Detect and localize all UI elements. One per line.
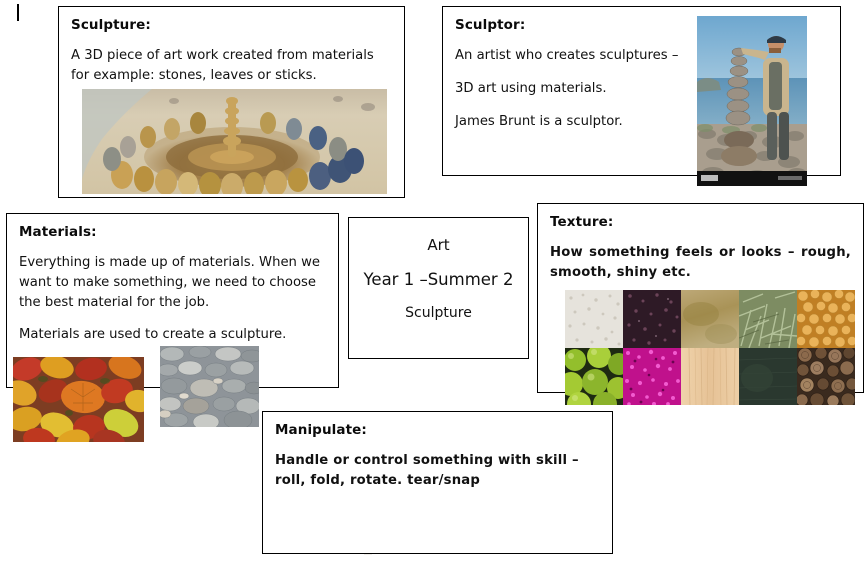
texture-swatch-cut-logs (797, 348, 855, 405)
art-subject-label: Art (349, 236, 528, 254)
texture-swatch-pale-wood (681, 348, 739, 405)
knowledge-organiser-page: Sculpture: A 3D piece of art work create… (0, 0, 866, 561)
card-materials-heading: Materials: (19, 224, 326, 240)
image-stone-circle-sculpture (82, 89, 387, 194)
texture-swatch-sand (681, 290, 739, 348)
image-autumn-leaves (13, 357, 144, 442)
card-sculpture-heading: Sculpture: (71, 17, 392, 33)
texture-swatch-dark-green-fabric (739, 348, 797, 405)
card-texture-heading: Texture: (550, 214, 851, 230)
card-manipulate-body: Handle or control something with skill –… (275, 451, 600, 491)
image-sculptor-portrait (697, 16, 807, 186)
texture-swatch-chickpeas (797, 290, 855, 348)
image-texture-swatch-grid (565, 290, 855, 405)
card-texture-body: How something feels or looks – rough, sm… (550, 243, 851, 283)
image-grey-pebbles (160, 346, 259, 427)
image-caption-bar (697, 171, 807, 186)
card-art-title: Art Year 1 –Summer 2 Sculpture (348, 217, 529, 359)
art-yeargroup-term-label: Year 1 –Summer 2 (349, 270, 528, 289)
card-manipulate-heading: Manipulate: (275, 422, 600, 438)
art-topic-label: Sculpture (349, 305, 528, 321)
card-sculpture-body: A 3D piece of art work created from mate… (71, 46, 392, 86)
text-caret-icon (17, 4, 19, 21)
card-materials-paragraph-2: Materials are used to create a sculpture… (19, 325, 326, 345)
texture-swatch-white-rough-plaster (565, 290, 623, 348)
texture-swatch-magenta-glitter (623, 348, 681, 405)
texture-swatch-green-grass (739, 290, 797, 348)
texture-swatch-dark-purple-grit (623, 290, 681, 348)
card-materials-paragraph-1: Everything is made up of materials. When… (19, 253, 326, 313)
card-manipulate: Manipulate: Handle or control something … (262, 411, 613, 554)
texture-swatch-green-apples (565, 348, 623, 405)
